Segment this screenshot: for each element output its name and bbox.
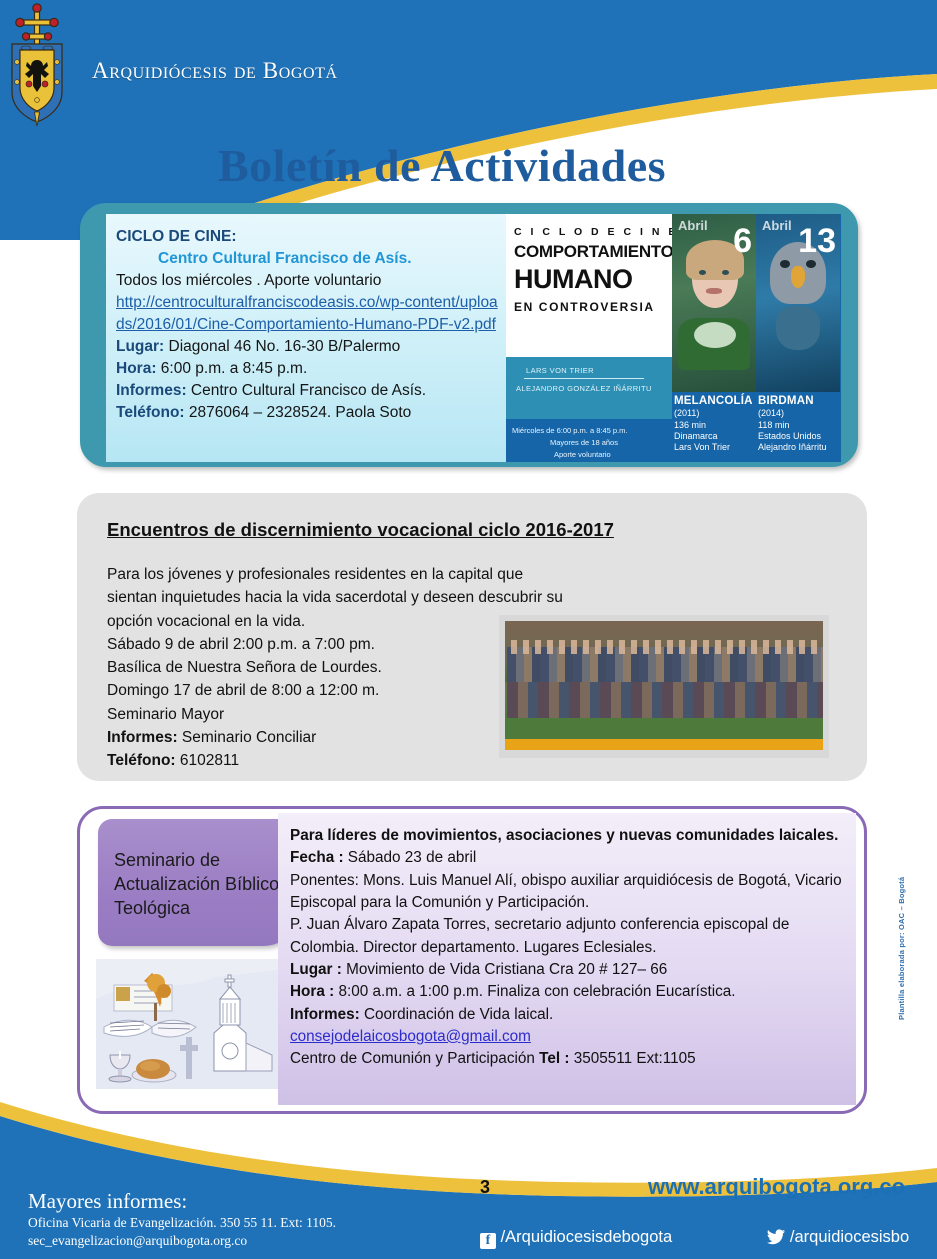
seminario-centro-text: Centro de Comunión y Participación [290,1050,539,1067]
cine-hora-value: 6:00 p.m. a 8:45 p.m. [156,360,307,377]
cine-lugar-label: Lugar: [116,338,164,355]
cine-pdf-link[interactable]: http://centroculturalfranciscodeasis.co/… [116,294,498,333]
film-info-melancolia: MELANCOLÍA (2011) 136 min Dinamarca Lars… [674,394,758,453]
cine-poster-image: C I C L O D E C I N E COMPORTAMIENTO HUM… [506,214,841,462]
poster-director-1: LARS VON TRIER [526,366,594,375]
film-year: (2011) [674,408,699,418]
poster-footer-1: Miércoles de 6:00 p.m. a 8:45 p.m. [512,426,627,435]
cine-schedule-note: Todos los miércoles . Aporte voluntario [116,270,498,292]
film-month-label: Abril [678,218,708,233]
vocacional-group-photo [499,615,829,758]
poster-title-2: HUMANO [514,264,633,295]
section-seminario-actualizacion: Seminario de Actualización Bíblico Teoló… [77,806,867,1114]
poster-director-2: ALEJANDRO GONZÁLEZ IÑÁRRITU [516,384,652,393]
film-country: Dinamarca [674,431,718,441]
page-title: Boletín de Actividades [218,139,666,192]
film-day-label: 13 [798,224,836,258]
footer-email: sec_evangelizacion@arquibogota.org.co [28,1232,336,1250]
cine-lugar-value: Diagonal 46 No. 16-30 B/Palermo [164,338,400,355]
vocacional-telefono-value: 6102811 [176,752,240,769]
cine-text-panel: CICLO DE CINE: Centro Cultural Francisco… [106,214,506,462]
cine-informes-row: Informes: Centro Cultural Francisco de A… [116,380,498,402]
template-credit-note: Plantilla elaborada por: OAC – Bogotá [897,880,906,1020]
coat-of-arms-icon [0,0,74,128]
organization-title: Arquidiócesis de Bogotá [92,58,338,84]
twitter-icon[interactable] [765,1229,785,1245]
poster-divider [524,378,644,379]
seminario-lugar-label: Lugar : [290,961,342,978]
vocacional-telefono-label: Teléfono: [107,752,176,769]
seminario-body: Para líderes de movimientos, asociacione… [278,813,856,1105]
cine-hora-label: Hora: [116,360,156,377]
seminario-lugar-value: Movimiento de Vida Cristiana Cra 20 # 12… [342,961,667,978]
cine-lugar-row: Lugar: Diagonal 46 No. 16-30 B/Palermo [116,336,498,358]
poster-title-1: COMPORTAMIENTO [514,242,674,262]
social-links: f /Arquidiocesisdebogota /arquidiocesisb… [480,1228,920,1254]
film-thumbnail-birdman: Abril 13 [756,214,840,392]
seminario-tel-value: 3505511 Ext:1105 [569,1050,695,1067]
footer-contact-block: Mayores informes: Oficina Vicaria de Eva… [28,1189,336,1250]
seminario-email-link[interactable]: consejodelaicosbogota@gmail.com [290,1028,531,1045]
page-number: 3 [480,1177,490,1198]
film-country: Estados Unidos [758,431,821,441]
seminario-fecha-label: Fecha : [290,849,344,866]
footer-oficina: Oficina Vicaria de Evangelización. 350 5… [28,1214,336,1232]
film-duration: 136 min [674,420,706,430]
film-month-label: Abril [762,218,792,233]
cine-informes-value: Centro Cultural Francisco de Asís. [187,382,427,399]
section-ciclo-de-cine: CICLO DE CINE: Centro Cultural Francisco… [80,203,858,467]
film-day-label: 6 [733,224,752,258]
seminario-informes-value: Coordinación de Vida laical. [360,1006,554,1023]
film-thumbnail-melancolia: Abril 6 [672,214,756,392]
cine-telefono-value: 2876064 – 2328524. Paola Soto [185,404,412,421]
facebook-handle[interactable]: /Arquidiocesisdebogota [501,1228,673,1246]
film-info-birdman: BIRDMAN (2014) 118 min Estados Unidos Al… [758,394,841,453]
bible-chalice-church-icon [96,959,286,1089]
section-discernimiento-vocacional: Encuentros de discernimiento vocacional … [77,493,867,781]
film-director: Alejandro Iñárritu [758,442,827,452]
seminario-ponentes-1: Ponentes: Mons. Luis Manuel Alí, obispo … [290,870,846,915]
seminario-tab-label: Seminario de Actualización Bíblico Teoló… [114,849,292,920]
poster-footer-2: Mayores de 18 años [550,438,618,447]
seminario-informes-label: Informes: [290,1006,360,1023]
film-director: Lars Von Trier [674,442,730,452]
vocacional-title: Encuentros de discernimiento vocacional … [107,519,837,541]
website-url[interactable]: www.arquibogota.org.co [648,1174,905,1200]
cine-telefono-row: Teléfono: 2876064 – 2328524. Paola Soto [116,402,498,424]
seminario-ponentes-2: P. Juan Álvaro Zapata Torres, secretario… [290,914,846,959]
seminario-hora-label: Hora : [290,983,334,1000]
vocacional-informes-value: Seminario Conciliar [178,729,317,746]
seminario-informes-row: Informes: Coordinación de Vida laical. [290,1004,846,1026]
cine-hora-row: Hora: 6:00 p.m. a 8:45 p.m. [116,358,498,380]
footer-mayores-informes: Mayores informes: [28,1189,336,1214]
film-title: BIRDMAN [758,395,814,407]
seminario-hora-row: Hora : 8:00 a.m. a 1:00 p.m. Finaliza co… [290,981,846,1003]
cine-subheading: Centro Cultural Francisco de Asís. [116,248,498,270]
cine-telefono-label: Teléfono: [116,404,185,421]
seminario-illustration [96,959,286,1089]
seminario-lugar-row: Lugar : Movimiento de Vida Cristiana Cra… [290,959,846,981]
poster-footer-3: Aporte voluntario [554,450,611,459]
facebook-icon[interactable]: f [480,1233,496,1249]
film-title: MELANCOLÍA [674,395,753,407]
film-duration: 118 min [758,420,789,430]
seminario-intro: Para líderes de movimientos, asociacione… [290,825,846,847]
vocacional-informes-label: Informes: [107,729,178,746]
cine-heading: CICLO DE CINE: [116,226,498,248]
cine-informes-label: Informes: [116,382,187,399]
poster-subtitle: EN CONTROVERSIA [514,300,655,314]
seminario-title-tab: Seminario de Actualización Bíblico Teoló… [98,819,303,946]
seminario-fecha-value: Sábado 23 de abril [344,849,477,866]
seminario-hora-value: 8:00 a.m. a 1:00 p.m. Finaliza con celeb… [334,983,735,1000]
seminario-tel-label: Tel : [539,1050,569,1067]
seminario-fecha-row: Fecha : Sábado 23 de abril [290,847,846,869]
twitter-handle[interactable]: /arquidiocesisbo [790,1228,909,1246]
seminario-centro-row: Centro de Comunión y Participación Tel :… [290,1048,846,1070]
film-year: (2014) [758,408,784,418]
poster-kicker: C I C L O D E C I N E [514,226,678,238]
